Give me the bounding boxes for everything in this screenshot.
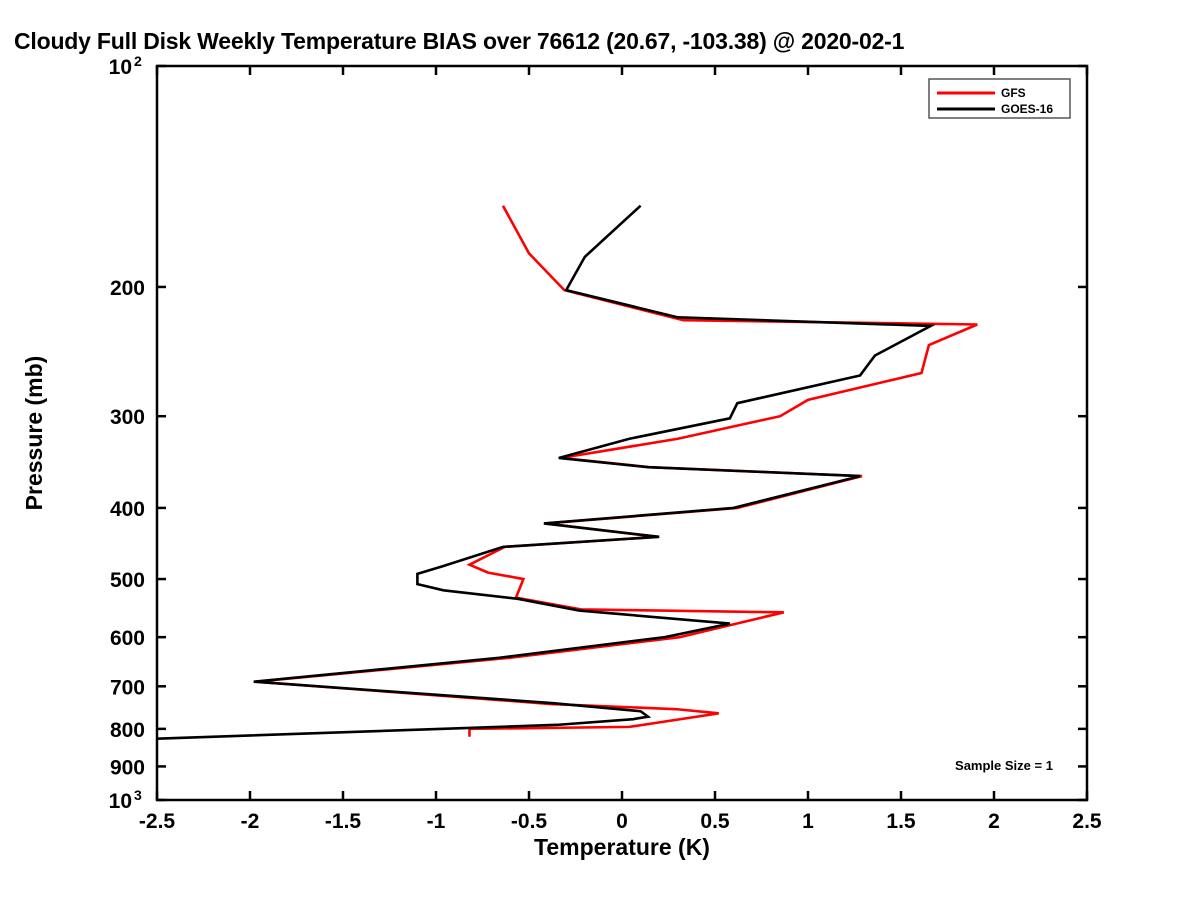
legend-label-goes16: GOES-16 [1001, 102, 1053, 116]
x-tick-label: -1.5 [325, 810, 362, 833]
y-tick-label: 103 [109, 787, 142, 813]
svg-text:10: 10 [109, 790, 132, 813]
data-series-group [157, 206, 977, 739]
y-tick-label: 900 [110, 756, 145, 779]
x-tick-label: 2.5 [1072, 810, 1102, 833]
y-tick-label: 300 [110, 406, 145, 429]
svg-text:2: 2 [134, 53, 142, 69]
svg-text:400: 400 [110, 498, 145, 521]
y-tick-label: 200 [110, 277, 145, 300]
y-tick-label: 800 [110, 719, 145, 742]
x-tick-label: -0.5 [511, 810, 548, 833]
y-tick-label: 400 [110, 498, 145, 521]
x-tick-label: 1.5 [886, 810, 916, 833]
svg-text:800: 800 [110, 719, 145, 742]
svg-text:600: 600 [110, 627, 145, 650]
axis-frame [157, 66, 1087, 800]
axis-ticks: -2.5-2-1.5-1-0.500.511.522.5102200300400… [109, 53, 1102, 833]
svg-text:500: 500 [110, 569, 145, 592]
svg-text:900: 900 [110, 756, 145, 779]
svg-text:200: 200 [110, 277, 145, 300]
y-tick-label: 500 [110, 569, 145, 592]
chart-figure: Cloudy Full Disk Weekly Temperature BIAS… [0, 0, 1200, 900]
chart-legend[interactable]: GFS GOES-16 [929, 79, 1070, 118]
x-tick-label: -2.5 [139, 810, 176, 833]
x-tick-label: 0 [616, 810, 628, 833]
x-axis-title: Temperature (K) [534, 834, 710, 860]
legend-label-gfs: GFS [1001, 86, 1026, 100]
series-line-gfs [256, 206, 978, 737]
svg-text:10: 10 [109, 56, 132, 79]
series-line-goes-16 [157, 206, 931, 739]
y-tick-label: 600 [110, 627, 145, 650]
x-tick-label: -2 [241, 810, 260, 833]
plot-area: -2.5-2-1.5-1-0.500.511.522.5102200300400… [0, 0, 1200, 900]
svg-text:3: 3 [134, 787, 142, 803]
x-tick-label: 1 [802, 810, 814, 833]
x-tick-label: 2 [988, 810, 1000, 833]
x-tick-label: -1 [427, 810, 446, 833]
y-tick-label: 102 [109, 53, 142, 79]
x-tick-label: 0.5 [700, 810, 730, 833]
y-tick-label: 700 [110, 676, 145, 699]
y-axis-title: Pressure (mb) [21, 356, 47, 511]
sample-size-annotation: Sample Size = 1 [955, 758, 1053, 773]
svg-text:300: 300 [110, 406, 145, 429]
svg-text:700: 700 [110, 676, 145, 699]
